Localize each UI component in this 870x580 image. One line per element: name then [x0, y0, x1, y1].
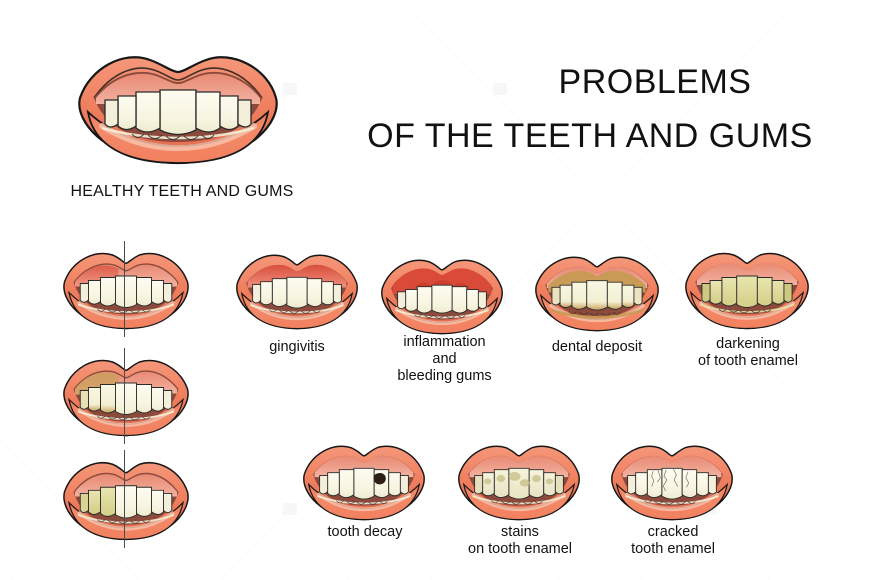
compare-stage-2-illustration [60, 350, 192, 440]
inflammation-illustration [378, 250, 506, 338]
tooth-decay-illustration [300, 436, 428, 524]
darkening-of-enamel-caption: darkening of tooth enamel [672, 336, 824, 370]
gingivitis-caption: gingivitis [222, 339, 372, 356]
stains-caption: stains on tooth enamel [445, 524, 595, 558]
dental-deposit-caption: dental deposit [522, 339, 672, 356]
cracked-enamel-illustration [608, 436, 736, 524]
cracked-enamel-caption: cracked tooth enamel [598, 524, 748, 558]
compare-stage-1-divider [124, 241, 125, 337]
poster-root: PROBLEMS OF THE TEETH AND GUMS [0, 0, 870, 580]
stains-illustration [455, 436, 583, 524]
gingivitis-illustration [233, 245, 361, 333]
poster-title-line-1: PROBLEMS [440, 58, 870, 106]
darkening-of-enamel-illustration [682, 243, 812, 333]
compare-stage-3-illustration [60, 452, 192, 544]
healthy-mouth-illustration [72, 42, 284, 170]
tooth-decay-caption: tooth decay [290, 524, 440, 541]
dental-deposit-illustration [532, 247, 662, 335]
compare-stage-1-illustration [60, 243, 192, 333]
decay-spot [374, 473, 386, 484]
compare-stage-3-divider [124, 450, 125, 548]
poster-title-line-2: OF THE TEETH AND GUMS [310, 112, 870, 160]
compare-stage-2-divider [124, 348, 125, 444]
inflammation-caption: inflammation and bleeding gums [372, 334, 517, 385]
healthy-mouth-caption: HEALTHY TEETH AND GUMS [42, 183, 322, 200]
